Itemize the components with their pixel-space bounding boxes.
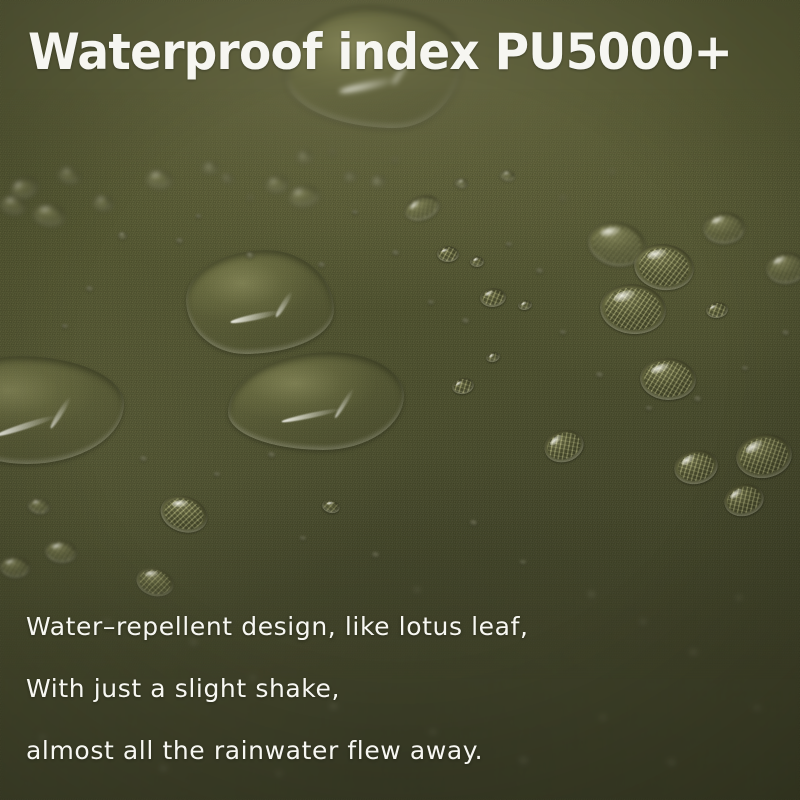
water-droplet bbox=[454, 176, 469, 190]
puddle-highlight bbox=[281, 407, 341, 425]
water-droplet-micro bbox=[86, 286, 93, 291]
water-droplet bbox=[733, 430, 795, 482]
water-droplet bbox=[343, 171, 357, 182]
water-droplet-micro bbox=[646, 406, 652, 410]
water-droplet-micro bbox=[694, 396, 701, 401]
water-droplet bbox=[265, 175, 288, 192]
water-droplet bbox=[56, 165, 81, 186]
water-droplet-micro bbox=[62, 324, 68, 328]
water-droplet-micro bbox=[520, 560, 526, 564]
water-droplet bbox=[202, 162, 218, 174]
water-droplet-micro bbox=[736, 596, 742, 600]
water-droplet-micro bbox=[610, 170, 615, 174]
water-droplet-micro bbox=[352, 210, 358, 214]
puddle-highlight bbox=[230, 309, 280, 325]
caption-line-3: almost all the rainwater flew away. bbox=[26, 736, 766, 765]
water-droplet bbox=[145, 169, 172, 189]
water-droplet-micro bbox=[392, 158, 398, 162]
water-droplet-micro bbox=[118, 232, 127, 239]
water-droplet-micro bbox=[536, 268, 543, 273]
water-droplet bbox=[288, 184, 320, 208]
water-droplet bbox=[222, 174, 233, 182]
water-droplet bbox=[437, 246, 459, 262]
water-droplet-micro bbox=[248, 196, 253, 200]
water-droplet-micro bbox=[392, 250, 399, 255]
water-droplet-micro bbox=[276, 772, 282, 776]
water-droplet bbox=[321, 498, 341, 515]
water-droplet-micro bbox=[140, 456, 147, 461]
water-droplet-micro bbox=[428, 300, 434, 304]
water-droplet bbox=[705, 301, 729, 319]
water-droplet bbox=[470, 256, 484, 267]
water-droplet bbox=[370, 174, 386, 187]
water-droplet-micro bbox=[214, 472, 220, 476]
water-droplet-micro bbox=[246, 252, 254, 258]
water-droplet bbox=[155, 489, 212, 539]
puddle-highlight bbox=[0, 413, 56, 438]
water-droplet-micro bbox=[160, 766, 167, 771]
water-droplet bbox=[479, 287, 507, 308]
water-droplet bbox=[499, 168, 516, 183]
water-droplet-micro bbox=[462, 318, 469, 323]
water-droplet-micro bbox=[470, 520, 477, 525]
puddle-highlight-secondary bbox=[274, 291, 294, 319]
water-droplet bbox=[671, 446, 721, 488]
water-droplet bbox=[765, 251, 800, 285]
water-droplet bbox=[296, 150, 313, 163]
water-droplet-micro bbox=[506, 242, 512, 246]
water-droplet-micro bbox=[414, 588, 420, 592]
water-droplet bbox=[485, 350, 501, 363]
caption-block: Water–repellent design, like lotus leaf,… bbox=[26, 612, 766, 765]
water-puddle-lower-bean bbox=[228, 352, 404, 450]
water-puddle-center-bean bbox=[186, 250, 334, 354]
water-droplet-micro bbox=[596, 372, 603, 377]
water-droplet-micro bbox=[196, 214, 201, 218]
water-droplet-micro bbox=[782, 330, 789, 335]
water-droplet bbox=[31, 201, 67, 229]
water-droplet-micro bbox=[268, 452, 275, 457]
water-droplet-micro bbox=[560, 330, 566, 334]
water-droplet-micro bbox=[560, 196, 566, 200]
page-title: Waterproof index PU5000+ bbox=[28, 26, 732, 78]
water-puddle-left-edge bbox=[0, 356, 124, 464]
water-droplet bbox=[703, 212, 745, 244]
water-droplet-micro bbox=[300, 536, 306, 540]
caption-line-2: With just a slight shake, bbox=[26, 674, 766, 703]
water-droplet bbox=[451, 376, 476, 396]
water-droplet-micro bbox=[330, 150, 335, 154]
water-droplet bbox=[92, 195, 114, 212]
water-droplet-micro bbox=[318, 262, 325, 267]
water-droplet bbox=[639, 357, 697, 402]
water-droplet bbox=[133, 563, 177, 600]
puddle-highlight-secondary bbox=[49, 395, 73, 429]
water-droplet-micro bbox=[742, 366, 748, 370]
water-droplet bbox=[401, 191, 443, 225]
water-droplet-micro bbox=[588, 592, 595, 597]
puddle-highlight-secondary bbox=[333, 387, 355, 419]
water-droplet bbox=[517, 299, 532, 311]
water-droplet bbox=[540, 425, 588, 468]
caption-line-1: Water–repellent design, like lotus leaf, bbox=[26, 612, 766, 641]
water-droplet-micro bbox=[176, 238, 183, 243]
water-droplet bbox=[44, 538, 79, 565]
product-image: Waterproof index PU5000+ Water–repellent… bbox=[0, 0, 800, 800]
water-droplet bbox=[27, 496, 51, 516]
water-droplet bbox=[0, 555, 31, 579]
water-droplet-micro bbox=[372, 552, 379, 557]
water-droplet bbox=[721, 479, 768, 520]
